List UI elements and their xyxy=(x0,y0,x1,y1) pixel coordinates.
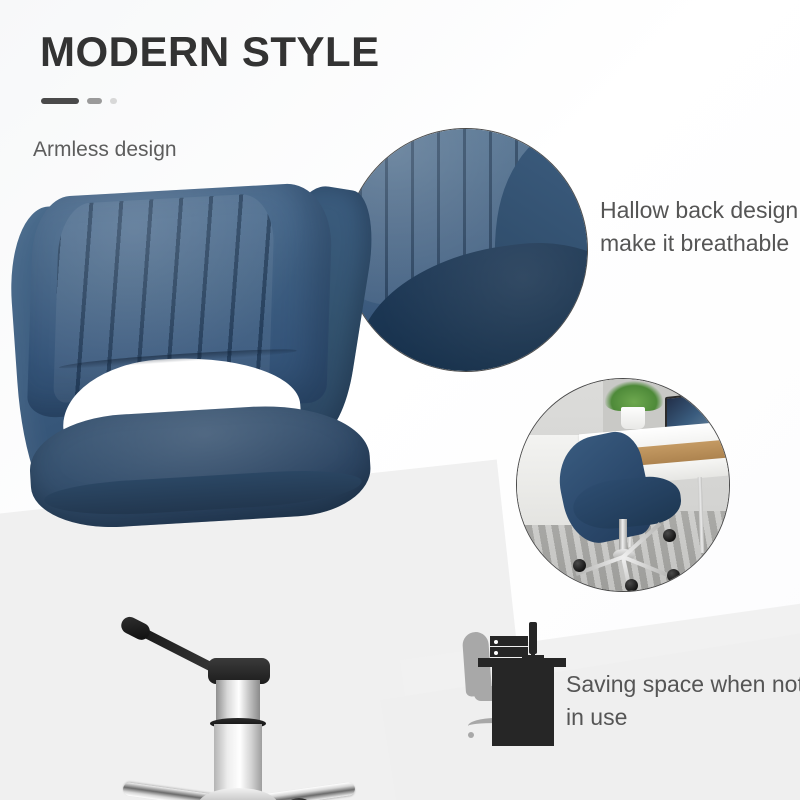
product-hero-chair xyxy=(10,180,430,780)
chair-gas-cylinder-upper xyxy=(216,680,260,722)
desk-chair-pictogram xyxy=(460,622,572,746)
callout-label-hallow-back: Hallow back design make it breathable xyxy=(600,194,800,259)
divider-dash-medium xyxy=(87,98,102,104)
scene-plant-pot xyxy=(621,407,645,429)
pictogram-chair-wheel xyxy=(468,732,474,738)
pictogram-monitor xyxy=(529,622,537,654)
lifestyle-photo-desk-scene xyxy=(516,378,730,592)
scene-chair-caster xyxy=(667,569,680,582)
page-subtitle: Armless design xyxy=(33,138,177,162)
pictogram-desk-top xyxy=(478,658,566,667)
scene-chair-caster xyxy=(625,579,638,592)
product-infographic: MODERN STYLE Armless design Hallow back … xyxy=(0,0,800,800)
chair-gas-cylinder-lower xyxy=(214,724,262,798)
scene-chair-cylinder xyxy=(619,519,627,553)
divider-dash-large xyxy=(41,98,79,104)
pictogram-box-knob xyxy=(494,651,498,655)
page-title: MODERN STYLE xyxy=(40,28,380,76)
scene-chair-caster xyxy=(573,559,586,572)
scene-chair-caster xyxy=(663,529,676,542)
callout-label-saving-space: Saving space when not in use xyxy=(566,668,800,733)
divider-dash-small xyxy=(110,98,117,104)
decorative-divider xyxy=(41,98,117,104)
pictogram-box-knob xyxy=(494,640,498,644)
pictogram-desk-body xyxy=(492,667,554,746)
